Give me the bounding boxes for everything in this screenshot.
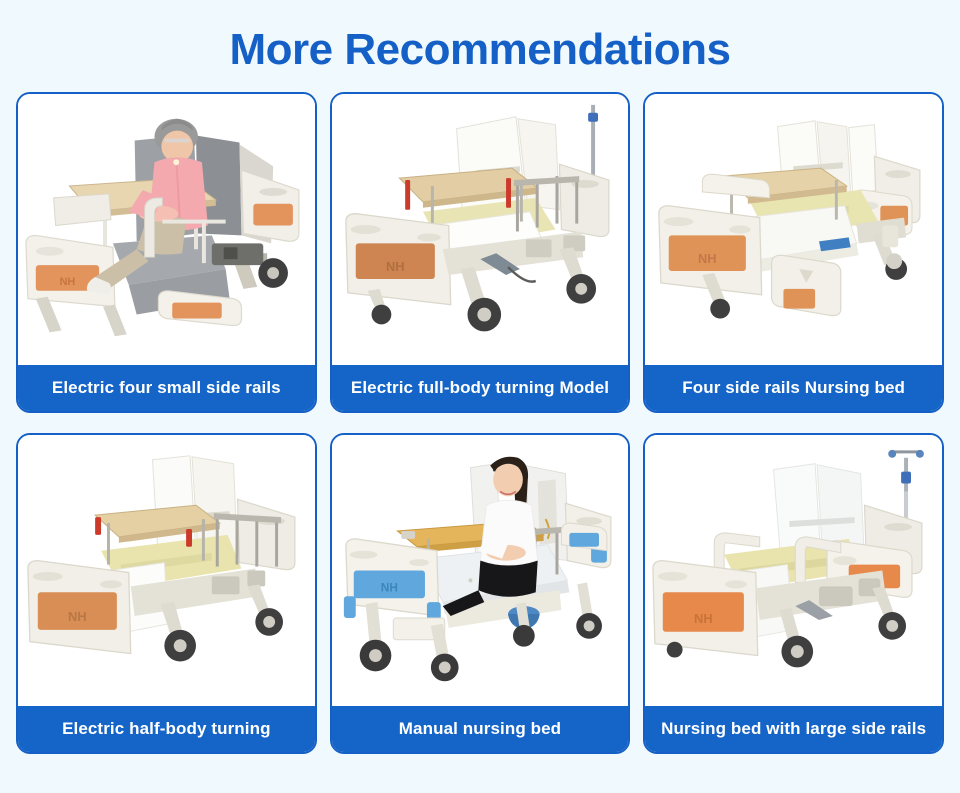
recommendation-card-electric-four-small-side-rails[interactable]: NH [16,92,317,413]
recommendation-card-four-side-rails-nursing-bed[interactable]: NH [643,92,944,413]
card-label-3[interactable]: Four side rails Nursing bed [645,365,942,411]
product-image-electric-four-small-side-rails: NH [18,94,315,365]
card-label-4[interactable]: Electric half-body turning [18,706,315,752]
bed-illustration-5: NH [332,435,629,706]
product-image-electric-full-body-turning-model: NH [332,94,629,365]
bed-illustration-4: NH [18,435,315,706]
product-image-nursing-bed-with-large-side-rails: NH [645,435,942,706]
svg-text:NH: NH [68,609,87,624]
product-image-electric-half-body-turning: NH [18,435,315,706]
svg-text:NH: NH [60,276,76,288]
svg-text:NH: NH [380,581,397,595]
bed-illustration-6: NH [645,435,942,706]
product-image-four-side-rails-nursing-bed: NH [645,94,942,365]
recommendation-card-electric-half-body-turning[interactable]: NH Electric half-body turning [16,433,317,754]
recommendations-page: More Recommendations [0,0,960,793]
card-label-2[interactable]: Electric full-body turning Model [332,365,629,411]
svg-text:NH: NH [694,611,713,626]
bed-illustration-1: NH [18,94,315,365]
svg-text:NH: NH [386,259,405,274]
recommendations-grid: NH [16,92,944,754]
product-image-manual-nursing-bed: NH [332,435,629,706]
card-label-1[interactable]: Electric four small side rails [18,365,315,411]
card-label-5[interactable]: Manual nursing bed [332,706,629,752]
card-label-6[interactable]: Nursing bed with large side rails [645,706,942,752]
bed-illustration-3: NH [645,94,942,365]
recommendation-card-electric-full-body-turning-model[interactable]: NH [330,92,631,413]
bed-illustration-2: NH [332,94,629,365]
page-title: More Recommendations [0,0,960,74]
svg-text:NH: NH [698,252,717,267]
recommendation-card-manual-nursing-bed[interactable]: NH [330,433,631,754]
recommendation-card-nursing-bed-with-large-side-rails[interactable]: NH [643,433,944,754]
